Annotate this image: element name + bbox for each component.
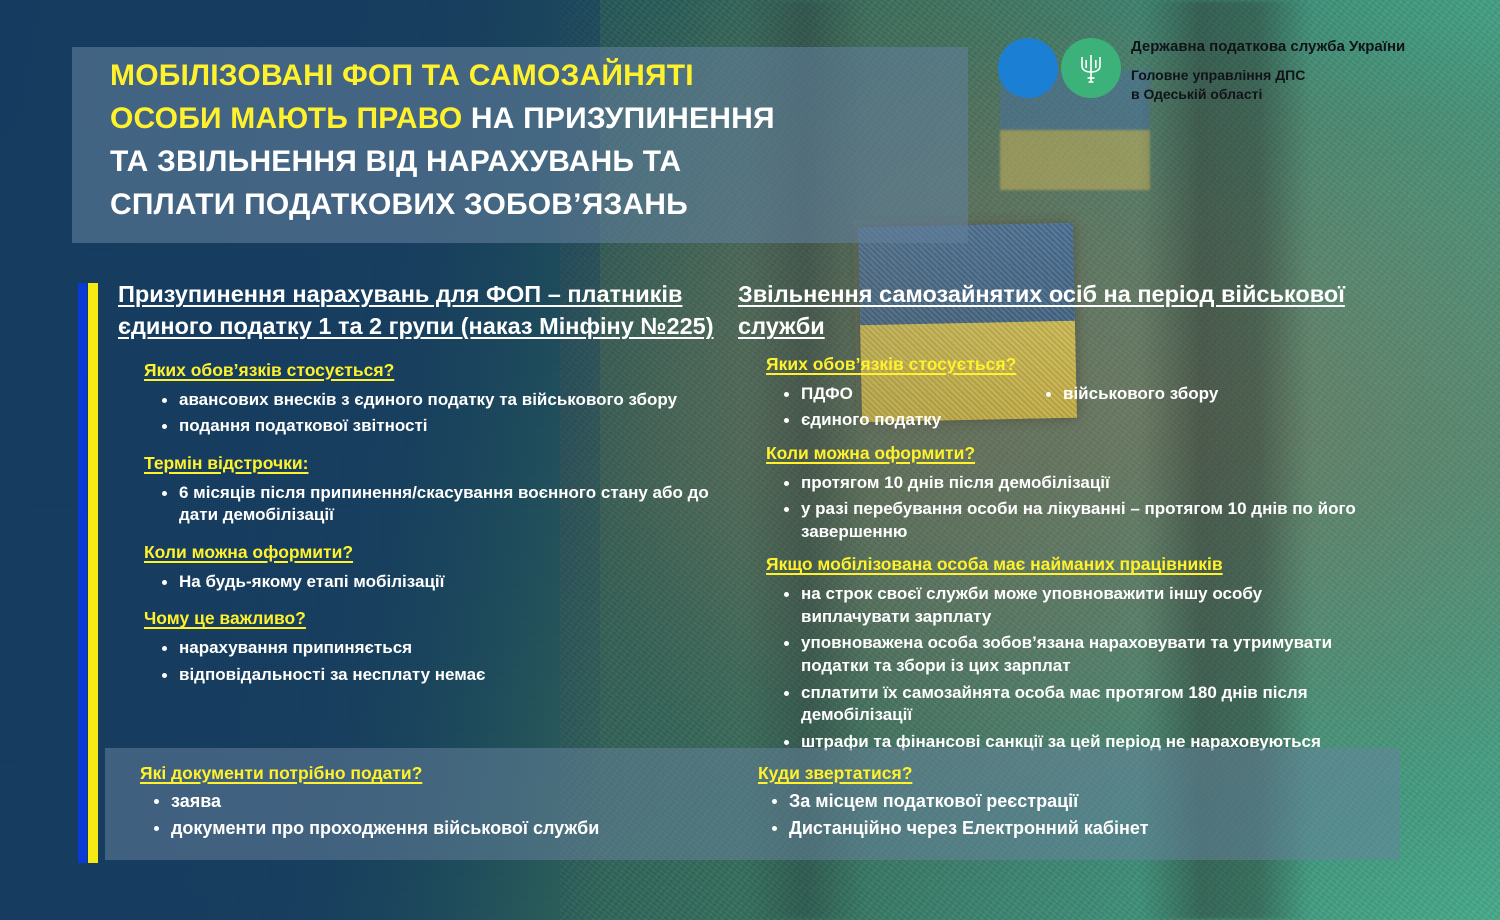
left-column: Призупинення нарахувань для ФОП – платни… — [118, 278, 718, 700]
bottom-right-title: Куди звертатися? — [758, 763, 1378, 784]
list-item: За місцем податкової реєстрації — [772, 790, 1378, 814]
bullet-list: За місцем податкової реєстрації Дистанці… — [758, 790, 1378, 841]
section-title: Коли можна оформити? — [766, 442, 1358, 465]
section-title: Коли можна оформити? — [144, 541, 718, 564]
section-title: Чому це важливо? — [144, 607, 718, 630]
green-circle-trident-icon — [1061, 38, 1121, 98]
list-item: На будь-якому етапі мобілізації — [162, 571, 718, 594]
list-item: документи про проходження військової слу… — [154, 817, 760, 841]
section-deferral-term: Термін відстрочки: 6 місяців після припи… — [118, 452, 718, 527]
list-item: 6 місяців після припинення/скасування во… — [162, 482, 718, 527]
list-item: нарахування припиняється — [162, 637, 718, 660]
title-line-4: СПЛАТИ ПОДАТКОВИХ ЗОБОВ’ЯЗАНЬ — [110, 188, 688, 221]
bullet-list: 6 місяців після припинення/скасування во… — [144, 482, 718, 527]
bottom-left-title: Які документи потрібно подати? — [140, 763, 760, 784]
right-column-heading: Звільнення самозайнятих осіб на період в… — [738, 278, 1358, 343]
list-item: подання податкової звітності — [162, 415, 718, 438]
section-when-apply-selfemployed: Коли можна оформити? протягом 10 днів пі… — [738, 442, 1358, 544]
bullet-list: авансових внесків з єдиного податку та в… — [144, 389, 718, 438]
bottom-right-block: Куди звертатися? За місцем податкової ре… — [758, 763, 1378, 844]
org-dept-line1: Головне управління ДПС — [1131, 66, 1481, 85]
title-line-1: МОБІЛІЗОВАНІ ФОП ТА САМОЗАЙНЯТІ — [110, 59, 694, 92]
title-line-3: ТА ЗВІЛЬНЕННЯ ВІД НАРАХУВАНЬ ТА — [110, 145, 681, 178]
bullet-list: нарахування припиняється відповідальност… — [144, 637, 718, 686]
section-why-important: Чому це важливо? нарахування припиняєтьс… — [118, 607, 718, 686]
org-dept-line2: в Одеській області — [1131, 85, 1481, 104]
bullet-list: протягом 10 днів після демобілізації у р… — [766, 472, 1358, 544]
bullet-list: на строк своєї служби може уповноважити … — [766, 583, 1358, 753]
title-line-2-yellow: ОСОБИ МАЮТЬ ПРАВО — [110, 102, 462, 135]
bullet-list: заява документи про проходження військов… — [140, 790, 760, 841]
list-item: авансових внесків з єдиного податку та в… — [162, 389, 718, 412]
list-item: на строк своєї служби може уповноважити … — [784, 583, 1358, 628]
bullet-list: На будь-якому етапі мобілізації — [144, 571, 718, 594]
list-item: єдиного податку — [784, 409, 1358, 432]
section-title: Якщо мобілізована особа має найманих пра… — [766, 553, 1358, 576]
org-name: Державна податкова служба України — [1131, 38, 1481, 56]
ukraine-accent-bar — [78, 283, 98, 863]
blue-circle-icon — [998, 38, 1058, 98]
list-item: військового збору — [1046, 383, 1218, 406]
list-item: Дистанційно через Електронний кабінет — [772, 817, 1378, 841]
section-obligations-fop: Яких обов’язків стосується? авансових вн… — [118, 359, 718, 438]
accent-bar-blue — [78, 283, 87, 863]
list-item: сплатити їх самозайнята особа має протяг… — [784, 682, 1358, 727]
list-item: заява — [154, 790, 760, 814]
bullet-list-secondary: військового збору — [1028, 383, 1218, 410]
section-when-apply-fop: Коли можна оформити? На будь-якому етапі… — [118, 541, 718, 593]
section-obligations-selfemployed: Яких обов’язків стосується? ПДФО єдиного… — [738, 353, 1358, 432]
right-column: Звільнення самозайнятих осіб на період в… — [738, 278, 1358, 763]
section-title: Яких обов’язків стосується? — [144, 359, 718, 382]
list-item: відповідальності за несплату немає — [162, 664, 718, 687]
list-item: уповноважена особа зобов’язана нараховув… — [784, 632, 1358, 677]
dual-bullet-group: ПДФО єдиного податку військового збору — [766, 383, 1358, 432]
page-title: МОБІЛІЗОВАНІ ФОП ТА САМОЗАЙНЯТІ ОСОБИ МА… — [110, 55, 960, 227]
logo-circles — [998, 38, 1123, 98]
list-item: у разі перебування особи на лікуванні – … — [784, 498, 1358, 543]
section-title: Термін відстрочки: — [144, 452, 718, 475]
section-title: Яких обов’язків стосується? — [766, 353, 1358, 376]
bottom-left-block: Які документи потрібно подати? заява док… — [140, 763, 760, 844]
logo-text: Державна податкова служба України Головн… — [1131, 38, 1481, 104]
left-column-heading: Призупинення нарахувань для ФОП – платни… — [118, 278, 718, 343]
list-item: протягом 10 днів після демобілізації — [784, 472, 1358, 495]
section-employees: Якщо мобілізована особа має найманих пра… — [738, 553, 1358, 753]
organization-logo: Державна податкова служба України Головн… — [998, 38, 1478, 120]
accent-bar-yellow — [88, 283, 98, 863]
title-line-2-white: НА ПРИЗУПИНЕННЯ — [462, 102, 774, 135]
trident-icon — [1078, 51, 1104, 85]
infographic-poster: МОБІЛІЗОВАНІ ФОП ТА САМОЗАЙНЯТІ ОСОБИ МА… — [0, 0, 1500, 920]
